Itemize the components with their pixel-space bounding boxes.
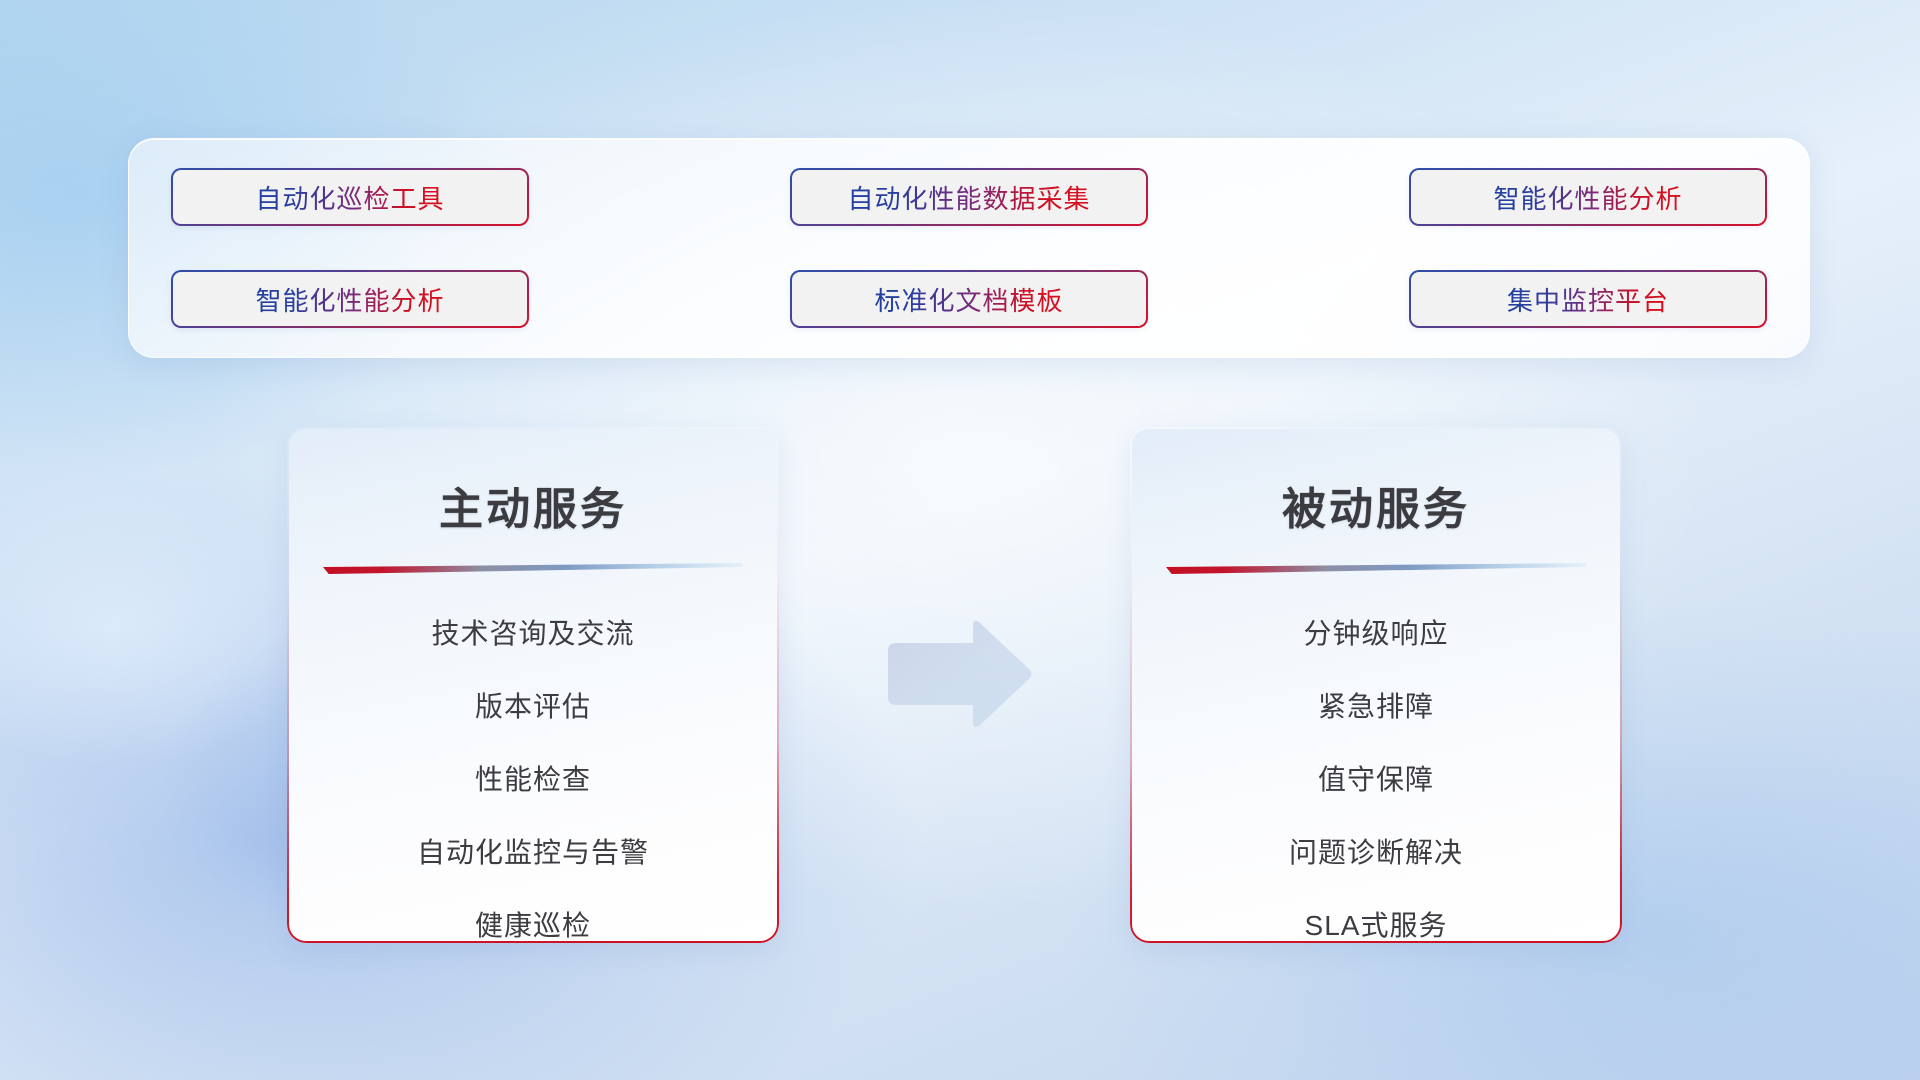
capability-tag[interactable]: 集中监控平台 xyxy=(1409,270,1767,328)
panel-divider xyxy=(323,563,743,575)
panel-item[interactable]: 健康巡检 xyxy=(315,895,751,957)
panel-item[interactable]: 值守保障 xyxy=(1158,749,1594,811)
capability-tag-label: 智能化性能分析 xyxy=(255,281,444,318)
panel-item[interactable]: 紧急排障 xyxy=(1158,676,1594,738)
capability-tag-label: 自动化性能数据采集 xyxy=(847,179,1090,216)
panel-item[interactable]: 版本评估 xyxy=(315,676,751,738)
capability-tag-card: 自动化巡检工具 自动化性能数据采集 智能化性能分析 智能化性能分析 标准化文档模… xyxy=(128,138,1810,358)
panel-item[interactable]: 技术咨询及交流 xyxy=(315,603,751,665)
panel-title: 主动服务 xyxy=(315,473,751,537)
panel-item-list: 分钟级响应 紧急排障 值守保障 问题诊断解决 SLA式服务 xyxy=(1158,603,1594,957)
capability-tag-label: 标准化文档模板 xyxy=(874,281,1063,318)
capability-tag-label: 集中监控平台 xyxy=(1507,281,1669,318)
capability-tag[interactable]: 智能化性能分析 xyxy=(171,270,529,328)
panel-item[interactable]: 自动化监控与告警 xyxy=(315,822,751,884)
service-panel-active: 主动服务 技术咨询及交流 版本评估 性能检查 自动化监控与告警 健康巡检 xyxy=(287,427,779,943)
capability-tag-label: 智能化性能分析 xyxy=(1493,179,1682,216)
capability-tag[interactable]: 自动化巡检工具 xyxy=(171,168,529,226)
capability-tag[interactable]: 自动化性能数据采集 xyxy=(790,168,1148,226)
panel-item-list: 技术咨询及交流 版本评估 性能检查 自动化监控与告警 健康巡检 xyxy=(315,603,751,957)
panel-item[interactable]: SLA式服务 xyxy=(1158,895,1594,957)
panel-divider xyxy=(1166,563,1586,575)
panel-title: 被动服务 xyxy=(1158,473,1594,537)
panel-item[interactable]: 性能检查 xyxy=(315,749,751,811)
capability-tag-label: 自动化巡检工具 xyxy=(255,179,444,216)
capability-tag[interactable]: 标准化文档模板 xyxy=(790,270,1148,328)
service-panel-passive: 被动服务 分钟级响应 紧急排障 值守保障 问题诊断解决 SLA式服务 xyxy=(1130,427,1622,943)
capability-tag[interactable]: 智能化性能分析 xyxy=(1409,168,1767,226)
panel-item[interactable]: 分钟级响应 xyxy=(1158,603,1594,665)
arrow-right-icon xyxy=(874,614,1034,734)
panel-item[interactable]: 问题诊断解决 xyxy=(1158,822,1594,884)
